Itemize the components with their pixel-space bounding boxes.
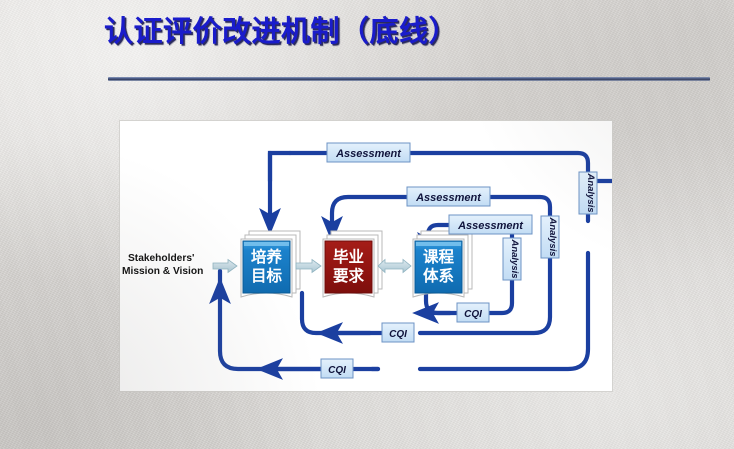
page-title: 认证评价改进机制（底线） xyxy=(104,16,724,49)
line-middle-assessment-left xyxy=(332,197,410,229)
node-requirement-label-line2: 要求 xyxy=(333,266,365,285)
accreditation-feedback-diagram: Stakeholders' Mission & Vision 培养 目标 xyxy=(120,121,612,391)
analysis-tag-outer-label: Analysis xyxy=(585,172,596,212)
stakeholders-line1: Stakeholders' xyxy=(128,253,194,264)
title-underline-divider xyxy=(108,77,710,81)
analysis-tag-inner[interactable]: Analysis xyxy=(503,238,521,280)
assessment-tag-inner-label: Assessment xyxy=(457,220,524,232)
node-curriculum-label-line1: 课程 xyxy=(423,248,455,266)
node-goal[interactable]: 培养 目标 xyxy=(241,231,300,297)
node-goal-label-line1: 培养 xyxy=(251,247,283,266)
cqi-tag-middle-label: CQI xyxy=(389,329,407,340)
analysis-tag-middle[interactable]: Analysis xyxy=(541,216,559,258)
line-inner-cqi-right xyxy=(488,279,512,313)
node-requirement[interactable]: 毕业 要求 xyxy=(323,231,382,297)
grey-arrow-requirement-curriculum xyxy=(378,260,411,273)
node-curriculum-label-line2: 体系 xyxy=(423,266,454,285)
cqi-tag-outer[interactable]: CQI xyxy=(321,359,353,378)
diagram-panel: Stakeholders' Mission & Vision 培养 目标 xyxy=(120,121,612,391)
node-requirement-label-line1: 毕业 xyxy=(333,248,364,266)
analysis-tag-inner-label: Analysis xyxy=(509,238,520,278)
line-outer-cqi-bottom xyxy=(220,291,378,369)
slide-canvas: 认证评价改进机制（底线） xyxy=(0,0,734,449)
line-middle-cqi-left xyxy=(302,293,382,333)
node-curriculum[interactable]: 课程 体系 xyxy=(413,231,472,297)
assessment-tag-inner[interactable]: Assessment xyxy=(449,215,532,234)
assessment-tag-middle-label: Assessment xyxy=(415,192,482,204)
cqi-tag-inner[interactable]: CQI xyxy=(457,303,489,322)
cqi-tag-inner-label: CQI xyxy=(464,309,482,320)
title-block: 认证评价改进机制（底线） xyxy=(104,16,724,49)
grey-arrow-stakeholders-to-goal xyxy=(213,260,237,273)
assessment-tag-outer-label: Assessment xyxy=(335,148,402,160)
assessment-tag-outer[interactable]: Assessment xyxy=(327,143,410,162)
cqi-tag-outer-label: CQI xyxy=(328,365,346,376)
cqi-tag-middle[interactable]: CQI xyxy=(382,323,414,342)
analysis-tag-middle-label: Analysis xyxy=(547,216,558,256)
analysis-tag-outer[interactable]: Analysis xyxy=(579,172,597,214)
assessment-tag-middle[interactable]: Assessment xyxy=(407,187,490,206)
node-goal-label-line2: 目标 xyxy=(251,267,283,285)
stakeholders-line2: Mission & Vision xyxy=(122,266,203,277)
